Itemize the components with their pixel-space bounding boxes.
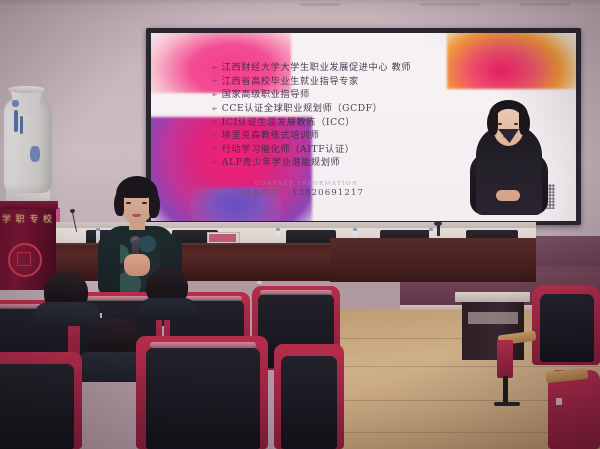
list-item: ➢ 江西省高校毕业生就业指导专家 — [211, 75, 446, 89]
speaker-portrait-photo — [470, 87, 548, 215]
list-item: ➢ 埃里克森教练式培训师 — [211, 129, 446, 143]
vase-decoration — [14, 110, 18, 132]
list-item: ➢ ICI认证生涯发展教练（ICC） — [211, 115, 446, 129]
table-lamp-head — [434, 221, 442, 226]
bullet-text: 埃里克森教练式培训师 — [222, 131, 320, 140]
seat-number-tag — [556, 398, 562, 405]
bottle-cap — [353, 228, 357, 231]
bullet-marker-icon: ➢ — [211, 145, 218, 153]
side-desk-shelf — [468, 312, 518, 324]
podium-seal-emblem — [8, 243, 42, 277]
slide-bullet-list: ➢ 江西财经大学大学生职业发展促进中心 教师 ➢ 江西省高校毕业生就业指导专家 … — [211, 61, 446, 170]
bottle-cap — [276, 228, 280, 231]
bullet-text: CCE认证全球职业规划师（GCDF） — [222, 104, 383, 113]
auditorium-seat-pad — [146, 348, 260, 449]
auditorium-seat-pad — [540, 294, 594, 362]
bullet-text: ICI认证生涯发展教练（ICC） — [222, 118, 355, 127]
portrait-hair-right — [519, 111, 530, 135]
side-desk-body — [462, 300, 524, 360]
auditorium-seat-headrest — [260, 290, 332, 295]
side-desk-top — [455, 292, 530, 302]
vase-decoration — [30, 146, 40, 162]
presenter-hair-left — [114, 192, 124, 216]
audience-shoulders — [138, 298, 198, 320]
bullet-marker-icon: ➢ — [211, 118, 218, 126]
seal-inner — [17, 252, 31, 266]
auditorium-seat-foot — [494, 402, 520, 406]
list-item: ➢ ALP青少年学业潜能规划师 — [211, 156, 446, 170]
portrait-eye-right — [514, 123, 518, 125]
bullet-text: 江西财经大学大学生职业发展促进中心 教师 — [222, 63, 411, 72]
bullet-text: ALP青少年学业潜能规划师 — [222, 158, 341, 167]
presenter-eye-right — [142, 202, 147, 204]
podium-inscription: 学 职 专 校 — [2, 212, 52, 225]
bullet-marker-icon: ➢ — [211, 159, 218, 167]
vase-decoration — [20, 116, 23, 134]
ceiling-vent — [300, 3, 340, 6]
watercolor-splash-topright — [447, 33, 576, 89]
auditorium-seat-pad — [281, 356, 337, 449]
bullet-marker-icon: ➢ — [211, 64, 218, 72]
lecture-hall-photo: ➢ 江西财经大学大学生职业发展促进中心 教师 ➢ 江西省高校毕业生就业指导专家 … — [0, 0, 600, 449]
bullet-text: 国家高级职业指导师 — [222, 90, 310, 99]
floor-plank — [330, 366, 600, 367]
portrait-eye-left — [498, 123, 502, 125]
presenter-eye-left — [126, 202, 131, 204]
auditorium-seat-pad — [0, 364, 74, 449]
name-placard-text — [209, 234, 236, 242]
presenter-hands — [124, 254, 150, 276]
vase-decoration — [12, 100, 19, 107]
list-item: ➢ 行动学习催化师（AITF认证） — [211, 143, 446, 157]
bullet-text: 行动学习催化师（AITF认证） — [222, 145, 355, 154]
bullet-marker-icon: ➢ — [211, 132, 218, 140]
list-item: ➢ CCE认证全球职业规划师（GCDF） — [211, 102, 446, 116]
projection-screen: ➢ 江西财经大学大学生职业发展促进中心 教师 ➢ 江西省高校毕业生就业指导专家 … — [151, 33, 576, 221]
table-front-panel-right — [330, 238, 536, 282]
contact-number: 13820691217 — [292, 188, 364, 198]
podium-char: 学 — [2, 212, 11, 225]
podium-char: 职 — [16, 212, 25, 225]
audience-shoulders — [34, 302, 100, 326]
auditorium-seat-armrest-base — [497, 340, 513, 378]
podium-char: 校 — [43, 212, 52, 225]
bullet-marker-icon: ➢ — [211, 77, 218, 85]
portrait-hair-left — [487, 111, 498, 135]
auditorium-seat-headrest — [150, 342, 256, 348]
bullet-marker-icon: ➢ — [211, 91, 218, 99]
vase-lip — [8, 86, 45, 93]
ceiling-vent — [520, 3, 570, 6]
presenter-hair-right — [149, 192, 160, 218]
bottle-cap — [429, 228, 433, 231]
presenter-neck — [129, 220, 145, 230]
podium-char: 专 — [29, 212, 38, 225]
list-item: ➢ 江西财经大学大学生职业发展促进中心 教师 — [211, 61, 446, 75]
list-item: ➢ 国家高级职业指导师 — [211, 88, 446, 102]
contact-label: 联系方式： — [243, 187, 289, 199]
podium-top — [0, 201, 58, 209]
auditorium-seat-leg — [503, 376, 508, 404]
bullet-text: 江西省高校毕业生就业指导专家 — [222, 77, 359, 86]
portrait-hands — [496, 190, 520, 201]
bullet-marker-icon: ➢ — [211, 105, 218, 113]
presenter-arm-left — [98, 234, 120, 296]
contact-row: 联系方式： 13820691217 — [243, 187, 364, 199]
table-microphone-head — [70, 209, 75, 213]
ceiling-vent — [420, 3, 480, 6]
